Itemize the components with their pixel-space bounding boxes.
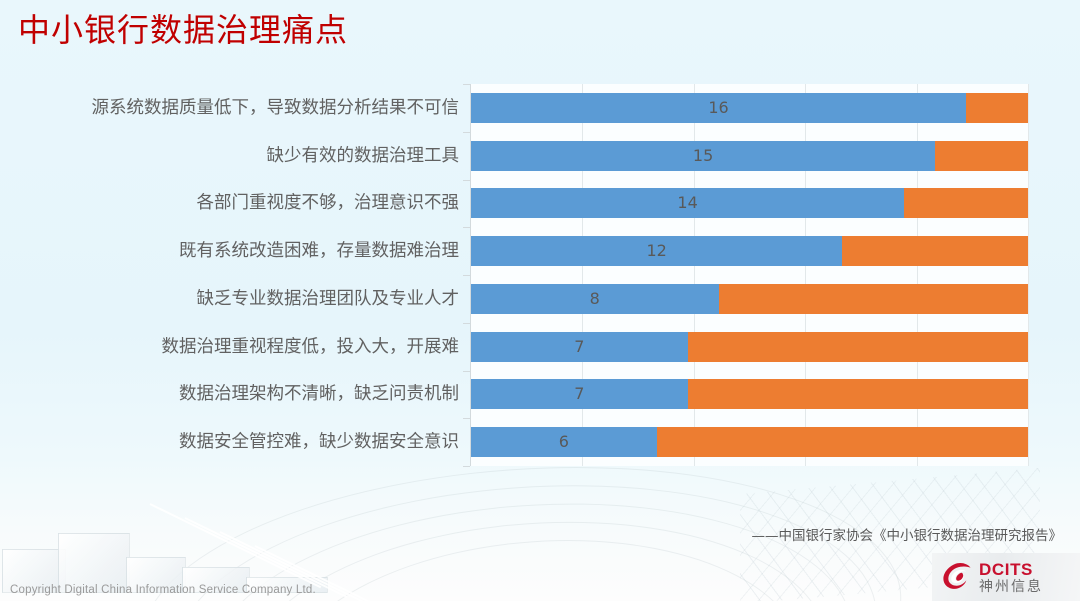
bar-segment[interactable] xyxy=(688,332,1028,362)
gridline xyxy=(1028,84,1029,466)
bar-value-label: 8 xyxy=(471,284,719,314)
bar-value-label: 12 xyxy=(471,236,842,266)
bar-value-label: 14 xyxy=(471,188,904,218)
axis-tick xyxy=(463,371,470,372)
bar-row[interactable]: 6 xyxy=(471,427,1028,457)
bar-value-label: 7 xyxy=(471,379,688,409)
slide-canvas: 中小银行数据治理痛点 源系统数据质量低下，导致数据分析结果不可信缺少有效的数据治… xyxy=(0,0,1080,601)
source-attribution: ——中国银行家协会《中小银行数据治理研究报告》 xyxy=(752,524,1063,544)
plot-area: 161514128776 xyxy=(471,84,1028,466)
bar-segment[interactable] xyxy=(688,379,1028,409)
bar-value-label: 7 xyxy=(471,332,688,362)
bar-segment[interactable] xyxy=(657,427,1028,457)
category-label: 缺少有效的数据治理工具 xyxy=(267,145,460,167)
bar-segment[interactable] xyxy=(966,93,1028,123)
bar-row[interactable]: 16 xyxy=(471,93,1028,123)
axis-tick xyxy=(463,132,470,133)
copyright-text: Copyright Digital China Information Serv… xyxy=(10,584,316,596)
bar-row[interactable]: 8 xyxy=(471,284,1028,314)
category-label: 各部门重视度不够，治理意识不强 xyxy=(197,192,460,214)
logo-cn-label: 神州信息 xyxy=(979,580,1043,594)
category-label: 数据治理重视程度低，投入大，开展难 xyxy=(162,336,460,358)
bar-row[interactable]: 14 xyxy=(471,188,1028,218)
bar-segment[interactable] xyxy=(842,236,1028,266)
axis-tick xyxy=(463,84,470,85)
category-label: 数据安全管控难，缺少数据安全意识 xyxy=(179,431,459,453)
bar-segment[interactable] xyxy=(719,284,1028,314)
category-label: 缺乏专业数据治理团队及专业人才 xyxy=(197,288,460,310)
stacked-bar-chart: 源系统数据质量低下，导致数据分析结果不可信缺少有效的数据治理工具各部门重视度不够… xyxy=(0,84,1045,466)
dcits-swirl-icon xyxy=(940,560,974,594)
logo-text: DCITS 神州信息 xyxy=(979,561,1043,594)
dcits-logo: DCITS 神州信息 xyxy=(932,553,1080,601)
axis-tick xyxy=(463,275,470,276)
category-label: 既有系统改造困难，存量数据难治理 xyxy=(179,240,459,262)
axis-tick xyxy=(463,418,470,419)
category-axis-labels: 源系统数据质量低下，导致数据分析结果不可信缺少有效的数据治理工具各部门重视度不够… xyxy=(0,84,465,466)
bar-row[interactable]: 12 xyxy=(471,236,1028,266)
category-label: 源系统数据质量低下，导致数据分析结果不可信 xyxy=(92,97,460,119)
bar-segment[interactable] xyxy=(904,188,1028,218)
bar-row[interactable]: 7 xyxy=(471,379,1028,409)
bar-value-label: 15 xyxy=(471,141,935,171)
bar-row[interactable]: 15 xyxy=(471,141,1028,171)
axis-tick xyxy=(463,227,470,228)
logo-en-label: DCITS xyxy=(979,561,1043,578)
category-axis-line xyxy=(470,84,471,466)
bar-segment[interactable] xyxy=(935,141,1028,171)
bar-value-label: 16 xyxy=(471,93,966,123)
axis-tick xyxy=(463,180,470,181)
axis-tick xyxy=(463,323,470,324)
page-title: 中小银行数据治理痛点 xyxy=(18,8,348,52)
bar-value-label: 6 xyxy=(471,427,657,457)
bar-row[interactable]: 7 xyxy=(471,332,1028,362)
category-label: 数据治理架构不清晰，缺乏问责机制 xyxy=(179,383,459,405)
axis-tick xyxy=(463,466,470,467)
